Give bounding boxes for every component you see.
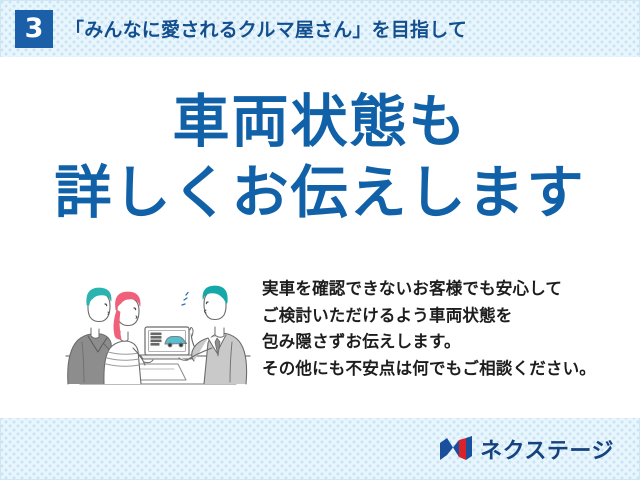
- header-title: 「みんなに愛されるクルマ屋さん」を目指して: [65, 15, 467, 42]
- brand-logo: ネクステージ: [439, 433, 614, 465]
- headline-line-2: 詳しくお伝えします: [0, 161, 640, 226]
- body-copy: 実車を確認できないお客様でも安心して ご検討いただけるよう車両状態を 包み隠さず…: [262, 276, 622, 383]
- headline-line-1: 車両状態も: [0, 90, 640, 155]
- footer-bar: ネクステージ: [0, 418, 640, 480]
- content-panel: 車両状態も 詳しくお伝えします: [0, 57, 640, 418]
- body-line-4: その他にも不安点は何でもご相談ください。: [262, 356, 622, 383]
- consultation-illustration: [60, 272, 255, 387]
- body-line-1: 実車を確認できないお客様でも安心して: [262, 276, 622, 303]
- step-number-badge: 3: [15, 10, 53, 48]
- body-line-3: 包み隠さずお伝えします。: [262, 329, 622, 356]
- nexstage-n-logo-icon: [439, 436, 473, 462]
- headline-block: 車両状態も 詳しくお伝えします: [0, 90, 640, 226]
- brand-name: ネクステージ: [480, 433, 614, 465]
- body-line-2: ご検討いただけるよう車両状態を: [262, 303, 622, 330]
- promo-slide: 3 「みんなに愛されるクルマ屋さん」を目指して 車両状態も 詳しくお伝えします: [0, 0, 640, 480]
- lower-content-row: 実車を確認できないお客様でも安心して ご検討いただけるよう車両状態を 包み隠さず…: [0, 272, 640, 402]
- header-bar: 3 「みんなに愛されるクルマ屋さん」を目指して: [0, 0, 640, 57]
